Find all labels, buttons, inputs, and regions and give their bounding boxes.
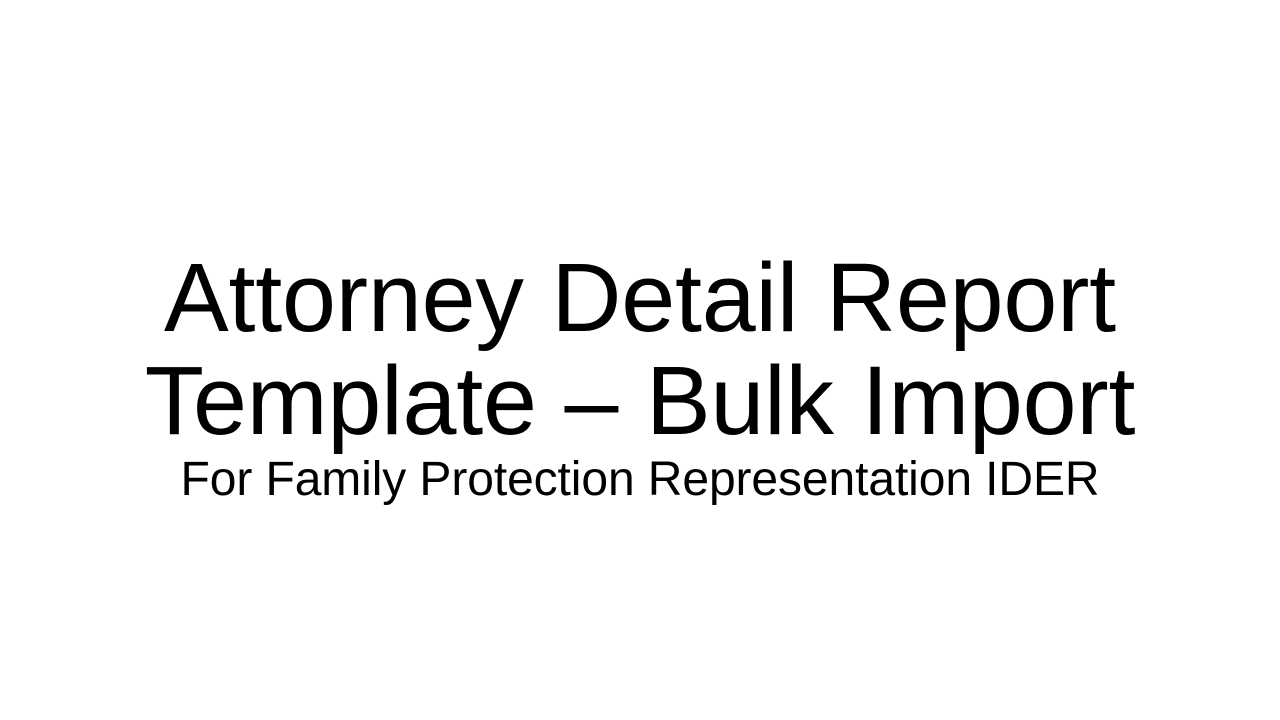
subtitle-placeholder[interactable]: For Family Protection Representation IDE… (128, 452, 1152, 522)
slide-title: Attorney Detail Report Template – Bulk I… (128, 246, 1152, 452)
slide-subtitle: For Family Protection Representation IDE… (128, 452, 1152, 508)
title-slide: Attorney Detail Report Template – Bulk I… (0, 0, 1280, 720)
title-placeholder[interactable]: Attorney Detail Report Template – Bulk I… (128, 112, 1152, 452)
